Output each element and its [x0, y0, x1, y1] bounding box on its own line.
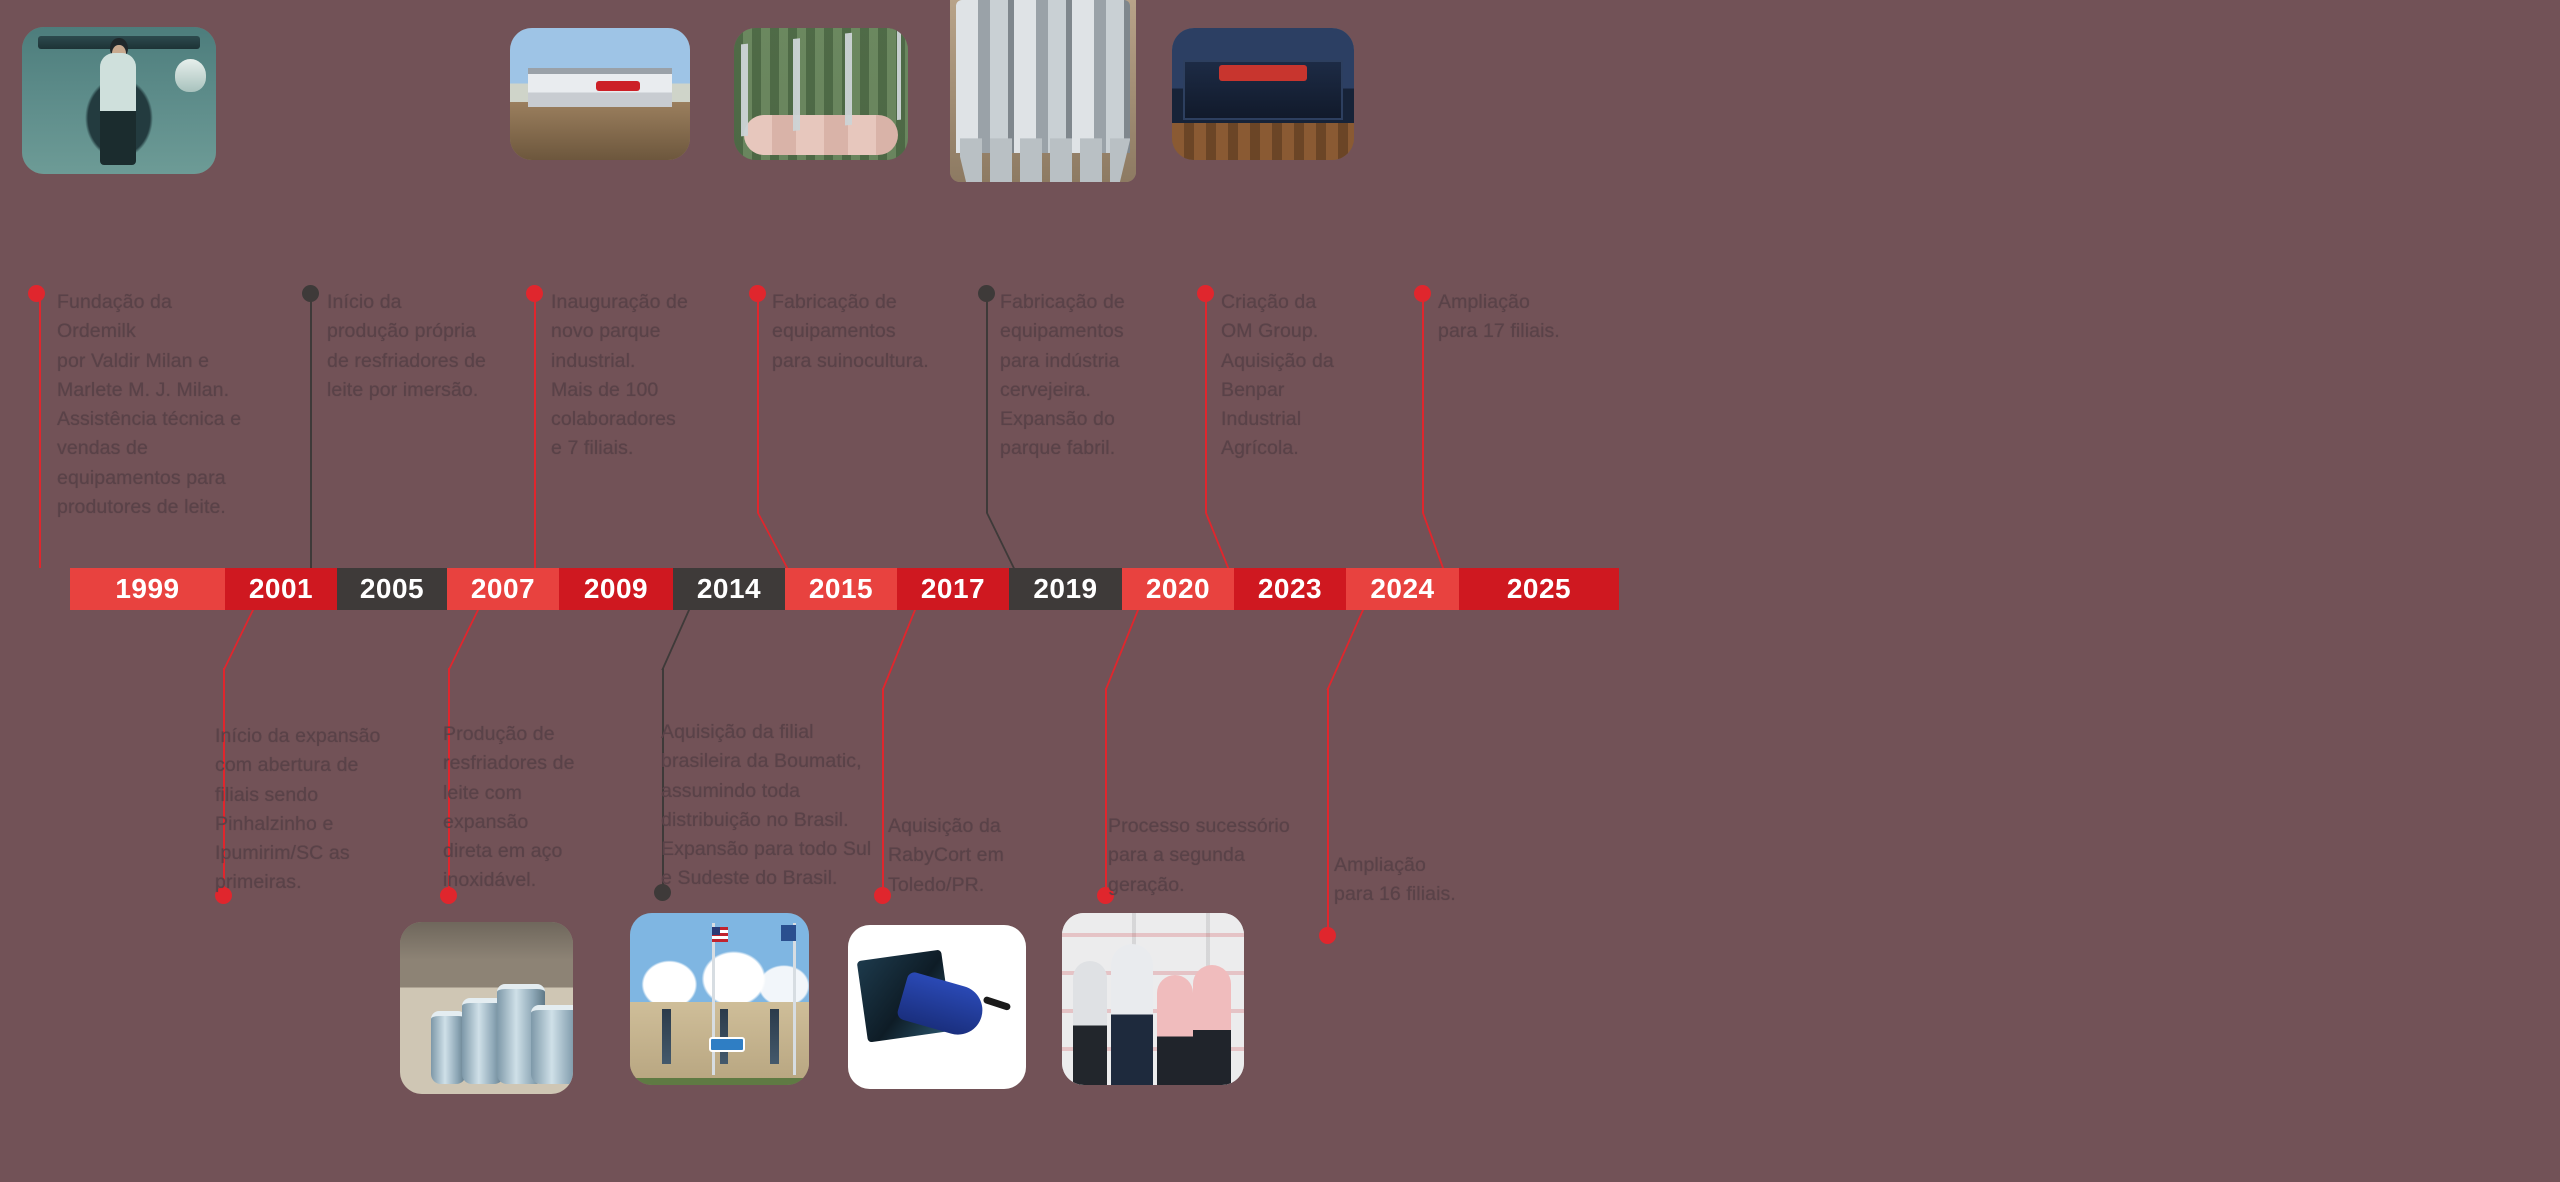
year-label: 2007: [471, 573, 535, 605]
decorative-tank: [431, 1011, 466, 1083]
connector-line: [310, 298, 312, 568]
connector-2009: [534, 290, 536, 568]
decorative-roof: [400, 922, 573, 960]
connector-2005: [310, 290, 312, 568]
decorative-figure: [112, 45, 126, 63]
year-cell-2019[interactable]: 2019: [1009, 568, 1122, 610]
year-cell-2020[interactable]: 2020: [1122, 568, 1234, 610]
photo-milkroom-image: [22, 27, 216, 174]
decorative-vessel: [175, 59, 206, 91]
decorative-sign: [596, 81, 639, 92]
year-cell-2014[interactable]: 2014: [673, 568, 785, 610]
year-label: 2024: [1370, 573, 1434, 605]
caption-2025: Ampliação para 17 filiais.: [1438, 288, 1608, 347]
photo-boumatic: [630, 913, 809, 1085]
caption-2024: Ampliação para 16 filiais.: [1334, 851, 1509, 910]
photo-benpar: [1172, 28, 1354, 160]
connector-line: [661, 610, 690, 670]
photo-plant-image: [510, 28, 690, 160]
photo-brewery-image: [950, 0, 1136, 182]
year-cell-2024[interactable]: 2024: [1346, 568, 1459, 610]
year-cell-2017[interactable]: 2017: [897, 568, 1009, 610]
marker-dot-1999: [28, 285, 45, 302]
marker-dot-2025: [1414, 285, 1431, 302]
photo-brewery: [950, 0, 1136, 182]
year-label: 2023: [1258, 573, 1322, 605]
person: [1073, 961, 1108, 1085]
year-cell-1999[interactable]: 1999: [70, 568, 225, 610]
connector-line: [534, 298, 536, 568]
person: [1193, 965, 1231, 1085]
photo-family-image: [1062, 913, 1244, 1085]
caption-2005: Início da produção própria de resfriador…: [327, 288, 507, 405]
person: [1157, 975, 1193, 1085]
connector-line: [223, 610, 254, 670]
year-label: 2005: [360, 573, 424, 605]
marker-dot-2023: [1197, 285, 1214, 302]
connector-line: [1105, 610, 1139, 690]
year-label: 2019: [1033, 573, 1097, 605]
photo-swine: [734, 28, 908, 160]
connector-line: [39, 298, 41, 568]
connector-line: [757, 513, 789, 569]
year-cell-2005[interactable]: 2005: [337, 568, 447, 610]
decorative-bars: [741, 28, 901, 137]
connector-line: [448, 610, 479, 670]
connector-line: [986, 513, 1015, 569]
year-cell-2023[interactable]: 2023: [1234, 568, 1346, 610]
year-label: 2025: [1507, 573, 1571, 605]
timeline-infographic: Fundação da Ordemilk por Valdir Milan e …: [0, 0, 2560, 1182]
year-cell-2001[interactable]: 2001: [225, 568, 337, 610]
marker-dot-2024: [1319, 927, 1336, 944]
decorative-clouds: [630, 944, 809, 1002]
year-label: 2017: [921, 573, 985, 605]
decorative-logs: [1172, 123, 1354, 160]
boumatic-logo: [709, 1037, 745, 1052]
caption-2015: Fabricação de equipamentos para suinocul…: [772, 288, 952, 376]
connector-line: [1327, 688, 1329, 943]
year-cell-2015[interactable]: 2015: [785, 568, 897, 610]
year-cell-2007[interactable]: 2007: [447, 568, 559, 610]
year-cell-2009[interactable]: 2009: [559, 568, 673, 610]
connector-line: [882, 610, 916, 690]
connector-line: [1422, 298, 1424, 513]
marker-dot-2019: [978, 285, 995, 302]
connector-line: [1105, 688, 1107, 903]
decorative-window: [662, 1009, 671, 1064]
photo-family: [1062, 913, 1244, 1085]
connector-line: [1205, 513, 1230, 569]
photo-stainless-tanks: [400, 922, 573, 1094]
photo-plant: [510, 28, 690, 160]
photo-rabycort: [848, 925, 1026, 1089]
photo-stainless-tanks-image: [400, 922, 573, 1094]
connector-line: [757, 298, 759, 513]
year-label: 2001: [249, 573, 313, 605]
decorative-tank: [531, 1005, 573, 1084]
photo-milkroom: [22, 27, 216, 174]
connector-line: [1205, 298, 1207, 513]
caption-2001: Início da expansão com abertura de filia…: [215, 722, 400, 898]
photo-rabycort-image: [848, 925, 1026, 1089]
decorative-cord: [983, 996, 1012, 1011]
year-label: 2014: [697, 573, 761, 605]
decorative-ground: [510, 102, 690, 160]
marker-dot-2009: [526, 285, 543, 302]
connector-line: [1422, 513, 1444, 569]
photo-boumatic-image: [630, 913, 809, 1085]
caption-2023: Criação da OM Group. Aquisição da Benpar…: [1221, 288, 1386, 464]
connector-line: [986, 298, 988, 513]
caption-2009: Inauguração de novo parque industrial. M…: [551, 288, 721, 464]
year-label: 1999: [115, 573, 179, 605]
decorative-cones: [956, 138, 1131, 182]
year-cell-2025[interactable]: 2025: [1459, 568, 1619, 610]
connector-line: [1326, 610, 1364, 690]
timeline-bar: 1999200120052007200920142015201720192020…: [70, 568, 1619, 610]
caption-2007: Produção de resfriadores de leite com ex…: [443, 720, 618, 896]
marker-dot-2005: [302, 285, 319, 302]
caption-2020: Processo sucessório para a segunda geraç…: [1108, 812, 1303, 900]
decorative-window: [770, 1009, 779, 1064]
caption-1999: Fundação da Ordemilk por Valdir Milan e …: [57, 288, 242, 522]
year-label: 2015: [809, 573, 873, 605]
photo-swine-image: [734, 28, 908, 160]
caption-2019: Fabricação de equipamentos para indústri…: [1000, 288, 1175, 464]
benpar-logo: [1219, 65, 1306, 81]
wisconsin-flag-icon: [781, 925, 796, 940]
marker-dot-2015: [749, 285, 766, 302]
year-label: 2020: [1146, 573, 1210, 605]
usa-flag-icon: [712, 927, 728, 942]
decorative-flagpole: [793, 923, 796, 1074]
year-label: 2009: [584, 573, 648, 605]
decorative-tanks: [956, 0, 1131, 153]
photo-benpar-image: [1172, 28, 1354, 160]
caption-2017: Aquisição da RabyCort em Toledo/PR.: [888, 812, 1063, 900]
person: [1111, 944, 1153, 1085]
caption-2014: Aquisição da filial brasileira da Boumat…: [661, 718, 896, 894]
